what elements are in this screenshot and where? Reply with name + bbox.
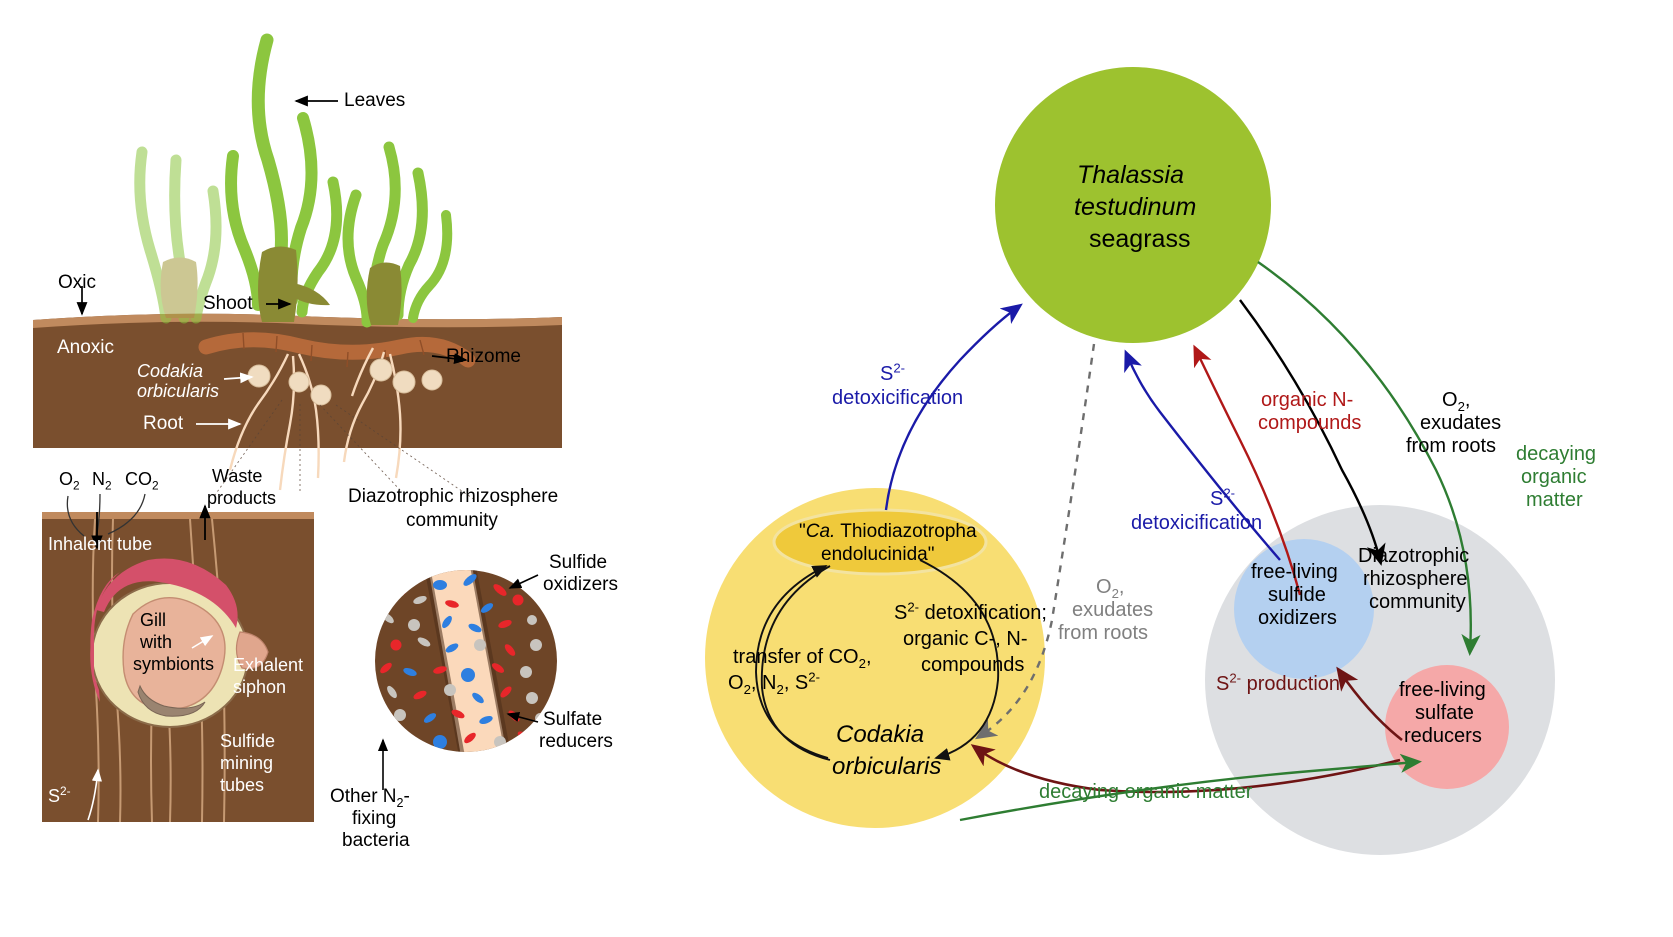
- label-shoot: Shoot: [203, 293, 253, 315]
- label-sulfate-reducers-inset-1: Sulfate: [543, 709, 602, 731]
- node-sulfide-oxidizers-label-2: sulfide: [1268, 584, 1326, 607]
- label-sulfide-tubes-line3: tubes: [220, 775, 264, 796]
- label-rhizo-inset-title-2: community: [406, 510, 498, 532]
- label-rhizo-inset-title-1: Diazotrophic rhizosphere: [348, 486, 558, 508]
- edge-label-decaying-right-1: decaying: [1516, 443, 1596, 466]
- edge-label-decaying-bottom: decaying organic matter: [1039, 781, 1252, 804]
- label-gill-line2: with: [140, 632, 172, 653]
- node-sulfate-reducers-label-2: sulfate: [1415, 702, 1474, 725]
- edge-label-s2-detox-left-1: S2-: [880, 363, 905, 386]
- edge-label-decaying-right-2: organic: [1521, 466, 1587, 489]
- edge-label-o2-exudates-mid-1: O2,: [1096, 576, 1124, 599]
- node-sulfate-reducers-label-1: free-living: [1399, 679, 1486, 702]
- edge-label-s2-production: S2- production: [1216, 673, 1340, 696]
- label-leaves: Leaves: [344, 90, 405, 112]
- node-rhizosphere-label-1: Diazotrophic: [1358, 545, 1469, 568]
- node-sulfate-reducers-label-3: reducers: [1404, 725, 1482, 748]
- label-gas-o2: O2: [59, 469, 80, 490]
- label-gill-line3: symbionts: [133, 654, 214, 675]
- label-oxic: Oxic: [58, 272, 96, 294]
- label-sulfide-s2: S2-: [48, 786, 71, 807]
- edge-label-organic-n-2: compounds: [1258, 412, 1361, 435]
- seagrass-plant-right: [348, 147, 447, 325]
- edge-label-o2-exudates-mid-3: from roots: [1058, 622, 1148, 645]
- node-symbiont-label-2: endolucinida": [821, 544, 934, 566]
- seagrass-plant-center: [231, 40, 337, 322]
- edge-label-transfer-1: transfer of CO2,: [733, 646, 872, 669]
- label-root: Root: [143, 413, 183, 435]
- label-exhalent-line1: Exhalent: [233, 655, 303, 676]
- edge-label-detox-internal-2: organic C-, N-: [903, 628, 1027, 651]
- node-symbiont-label-1: "Ca. Thiodiazotropha: [799, 521, 977, 543]
- label-inhalent-tube: Inhalent tube: [48, 534, 152, 555]
- label-sulfide-tubes-line1: Sulfide: [220, 731, 275, 752]
- label-exhalent-line2: siphon: [233, 677, 286, 698]
- label-sulfide-tubes-line2: mining: [220, 753, 273, 774]
- node-clam-label-1: Codakia: [836, 721, 924, 749]
- node-seagrass-label-1: Thalassia: [1077, 161, 1184, 190]
- node-rhizosphere-label-3: community: [1369, 591, 1466, 614]
- edge-label-o2-exudates-right-2: exudates: [1420, 412, 1501, 435]
- label-rhizome: Rhizome: [446, 346, 521, 368]
- node-seagrass-label-2: testudinum: [1074, 193, 1196, 222]
- node-sulfide-oxidizers-label-1: free-living: [1251, 561, 1338, 584]
- label-gill-line1: Gill: [140, 610, 166, 631]
- node-clam-label-2: orbicularis: [832, 753, 941, 781]
- edge-label-o2-exudates-right-1: O2,: [1442, 389, 1470, 412]
- label-sulfide-oxidizers-inset-2: oxidizers: [543, 574, 618, 596]
- label-codakia-line1: Codakia: [137, 361, 203, 382]
- label-waste-line1: Waste: [212, 466, 262, 487]
- edge-label-organic-n-1: organic N-: [1261, 389, 1353, 412]
- node-seagrass-label-3: seagrass: [1089, 225, 1190, 254]
- label-gas-co2: CO2: [125, 469, 159, 490]
- figure-root: Leaves Shoot Rhizome Root Oxic Anoxic Co…: [0, 0, 1673, 937]
- rhizosphere-inset-circle: [375, 554, 557, 790]
- label-gas-n2: N2: [92, 469, 112, 490]
- label-other-n2-line2: fixing: [352, 808, 396, 830]
- edge-label-detox-internal-1: S2- detoxification;: [894, 602, 1047, 625]
- edge-label-detox-internal-3: compounds: [921, 654, 1024, 677]
- edge-label-o2-exudates-mid-2: exudates: [1072, 599, 1153, 622]
- edge-label-transfer-2: O2, N2, S2-: [728, 672, 820, 695]
- edge-label-s2-detox-left-2: detoxicification: [832, 387, 963, 410]
- label-anoxic: Anoxic: [57, 337, 114, 359]
- node-rhizosphere-label-2: rhizosphere: [1363, 568, 1468, 591]
- node-sulfide-oxidizers-label-3: oxidizers: [1258, 607, 1337, 630]
- edge-label-s2-detox-mid-2: detoxicification: [1131, 512, 1262, 535]
- label-waste-line2: products: [207, 488, 276, 509]
- edge-label-decaying-right-3: matter: [1526, 489, 1583, 512]
- label-sulfide-oxidizers-inset-1: Sulfide: [549, 552, 607, 574]
- label-other-n2-line3: bacteria: [342, 830, 410, 852]
- edge-label-s2-detox-mid-1: S2-: [1210, 488, 1235, 511]
- label-sulfate-reducers-inset-2: reducers: [539, 731, 613, 753]
- label-other-n2-line1: Other N2-: [330, 786, 410, 808]
- label-codakia-line2: orbicularis: [137, 381, 219, 402]
- edge-label-o2-exudates-right-3: from roots: [1406, 435, 1496, 458]
